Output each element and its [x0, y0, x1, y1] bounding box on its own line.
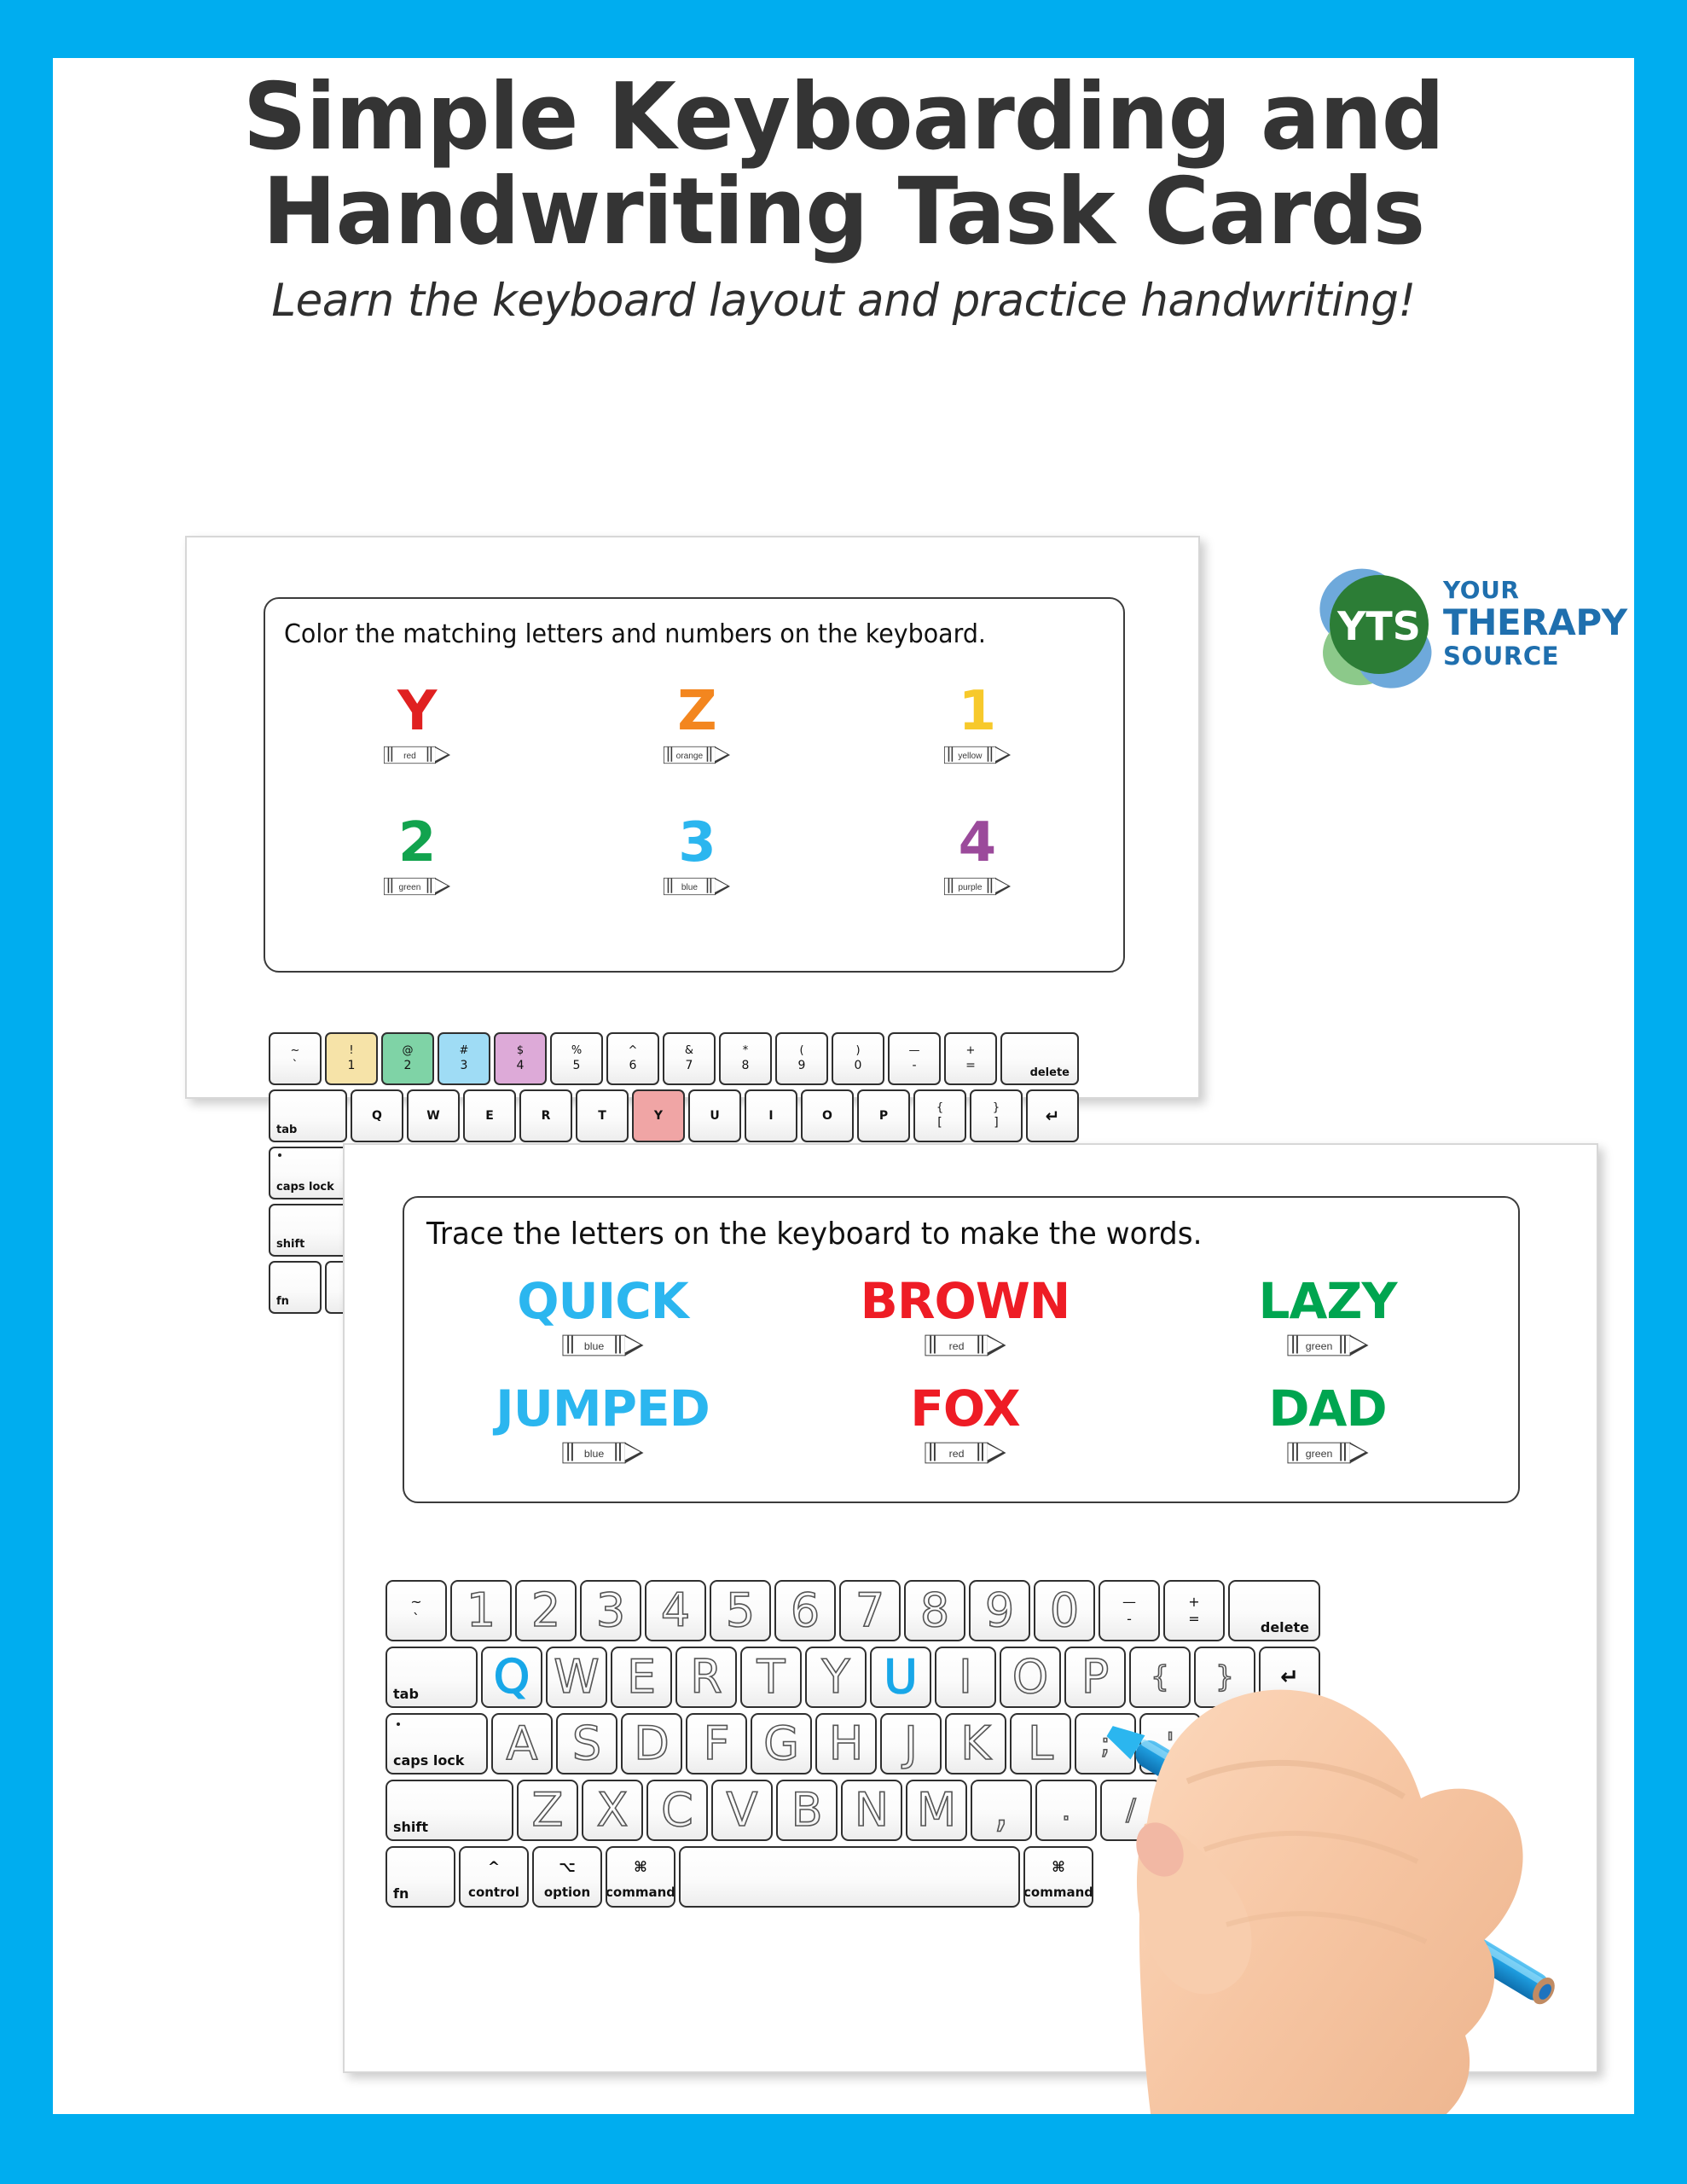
- key-option[interactable]: ⌥option: [532, 1846, 602, 1908]
- trace-word: JUMPED: [421, 1384, 784, 1433]
- key-label: ↵: [1046, 1106, 1060, 1126]
- key-label: @2: [403, 1045, 414, 1072]
- key-label: tab: [393, 1686, 419, 1702]
- key-O[interactable]: O: [1000, 1647, 1061, 1708]
- key-period[interactable]: .: [1035, 1780, 1097, 1841]
- crayon-band: [619, 1443, 621, 1461]
- crayon-icon: green: [384, 878, 450, 895]
- task-card-tracing[interactable]: Trace the letters on the keyboard to mak…: [343, 1143, 1598, 2073]
- key-label: 3: [596, 1588, 625, 1634]
- key-`[interactable]: ~`: [386, 1580, 447, 1641]
- card1-instruction-box: Color the matching letters and numbers o…: [264, 597, 1125, 973]
- card1-instruction-text: Color the matching letters and numbers o…: [284, 619, 986, 649]
- key-K[interactable]: K: [945, 1713, 1006, 1774]
- card2-word-grid: QUICKblueBROWNredLAZYgreenJUMPEDblueFOXr…: [421, 1276, 1509, 1464]
- keyboard-row-numbers: ~`1234567890—-+=delete: [386, 1580, 1324, 1641]
- crayon-tip-inner: [1349, 1337, 1365, 1353]
- key-label: %5: [571, 1045, 582, 1072]
- crayon-color-label: blue: [572, 1443, 614, 1464]
- key-label: X: [597, 1787, 629, 1833]
- key-bracket-right[interactable]: }: [1194, 1647, 1255, 1708]
- key-label: caps lock: [393, 1752, 464, 1769]
- color-key-item: 2green: [277, 816, 557, 897]
- key-P[interactable]: P: [857, 1089, 910, 1142]
- crayon-band: [388, 747, 389, 762]
- key-W[interactable]: W: [546, 1647, 607, 1708]
- key-6[interactable]: 6: [774, 1580, 836, 1641]
- trace-word-item: LAZYgreen: [1146, 1276, 1509, 1356]
- key-M[interactable]: M: [906, 1780, 967, 1841]
- key-label: tab: [276, 1124, 297, 1136]
- crayon-band: [431, 879, 432, 893]
- crayon-color-label: blue: [673, 878, 708, 895]
- key-label: ~`: [291, 1045, 300, 1072]
- key-1[interactable]: !1: [325, 1032, 378, 1085]
- crayon-tip-inner: [435, 748, 448, 762]
- crayon-band: [1296, 1336, 1297, 1354]
- key-shift[interactable]: shift: [386, 1780, 513, 1841]
- key-label: caps lock: [276, 1181, 334, 1194]
- key-label: Y: [654, 1109, 663, 1123]
- crayon-band: [933, 1443, 935, 1461]
- trace-word: FOX: [784, 1384, 1146, 1433]
- key-9[interactable]: (9: [775, 1032, 828, 1085]
- key-Q[interactable]: Q: [351, 1089, 403, 1142]
- key-label: I: [959, 1654, 972, 1700]
- color-key-glyph: Y: [277, 684, 557, 739]
- key-semicolon[interactable]: ;: [1075, 1713, 1136, 1774]
- key-label: P: [879, 1109, 888, 1123]
- key-0[interactable]: )0: [832, 1032, 884, 1085]
- crayon-tip-inner: [987, 1444, 1002, 1461]
- key-label: W: [554, 1654, 599, 1700]
- key-label: /: [1126, 1796, 1135, 1825]
- crayon-icon: red: [925, 1443, 1006, 1464]
- key-label: F: [703, 1721, 729, 1767]
- key-label: G: [763, 1721, 799, 1767]
- card2-instruction-box: Trace the letters on the keyboard to mak…: [403, 1196, 1520, 1503]
- key-label: I: [768, 1109, 773, 1123]
- key-label: N: [855, 1787, 889, 1833]
- crayon-color-label: red: [935, 1335, 977, 1356]
- key-S[interactable]: S: [556, 1713, 617, 1774]
- key-quote[interactable]: ': [1139, 1713, 1201, 1774]
- trace-word-item: QUICKblue: [421, 1276, 784, 1356]
- key-label: {: [1151, 1663, 1169, 1692]
- trace-word-item: JUMPEDblue: [421, 1384, 784, 1464]
- key-label: E: [485, 1109, 494, 1123]
- crayon-tip-inner: [624, 1444, 640, 1461]
- key-label: Z: [532, 1787, 564, 1833]
- key-R[interactable]: R: [675, 1647, 737, 1708]
- crayon-icon: red: [384, 746, 450, 764]
- key-label: }]: [993, 1102, 1000, 1129]
- crayon-icon: blue: [562, 1443, 643, 1464]
- key-`[interactable]: ~`: [269, 1032, 322, 1085]
- key-R[interactable]: R: [519, 1089, 572, 1142]
- key-9[interactable]: 9: [969, 1580, 1030, 1641]
- key-space[interactable]: [679, 1846, 1020, 1908]
- key--[interactable]: —-: [1099, 1580, 1160, 1641]
- key-E[interactable]: E: [463, 1089, 516, 1142]
- key-control[interactable]: ^control: [459, 1846, 529, 1908]
- keyboard-row-qwerty: tabQWERTYUIOP{[}]↵: [269, 1089, 1082, 1142]
- trace-word: LAZY: [1146, 1276, 1509, 1326]
- key-return[interactable]: ↵: [1026, 1089, 1079, 1142]
- key-label: P: [1081, 1654, 1110, 1700]
- key-return[interactable]: ↵: [1259, 1647, 1320, 1708]
- key-=[interactable]: +=: [1163, 1580, 1225, 1641]
- task-card-color-matching[interactable]: Color the matching letters and numbers o…: [185, 536, 1200, 1099]
- key-label: —-: [909, 1045, 920, 1072]
- keyboard-row-modifiers: fn^control⌥option⌘command⌘command: [386, 1846, 1324, 1908]
- key-J[interactable]: J: [880, 1713, 942, 1774]
- key-label: K: [960, 1721, 990, 1767]
- key-label: ⌘command: [1023, 1848, 1093, 1906]
- key-0[interactable]: 0: [1034, 1580, 1095, 1641]
- crayon-band: [982, 1336, 983, 1354]
- key-label: O: [822, 1109, 832, 1123]
- key-tab[interactable]: tab: [386, 1647, 478, 1708]
- header: Simple Keyboarding and Handwriting Task …: [53, 58, 1634, 327]
- crayon-band: [982, 1443, 983, 1461]
- crayon-band: [567, 1443, 569, 1461]
- trace-word: QUICK: [421, 1276, 784, 1326]
- crayon-band: [427, 879, 428, 893]
- key-fn[interactable]: fn: [386, 1846, 455, 1908]
- key-,[interactable]: ,: [971, 1780, 1032, 1841]
- keyboard-row-numbers: ~`!1@2#3$4%5^6&7*8(9)0—-+=delete: [269, 1032, 1082, 1085]
- crayon-band: [427, 747, 428, 762]
- crayon-tip-inner: [716, 880, 728, 893]
- crayon-icon: blue: [664, 878, 730, 895]
- crayon-band: [431, 747, 432, 762]
- logo-line-source: SOURCE: [1443, 644, 1627, 669]
- crayon-tip-inner: [995, 880, 1008, 893]
- key-F[interactable]: F: [686, 1713, 747, 1774]
- crayon-band: [990, 747, 991, 762]
- key-slash[interactable]: /: [1100, 1780, 1162, 1841]
- key-label: (9: [798, 1045, 806, 1072]
- crayon-band: [619, 1336, 621, 1354]
- key-label: R: [690, 1654, 722, 1700]
- crayon-icon: red: [925, 1335, 1006, 1356]
- crayon-band: [930, 1443, 931, 1461]
- key-L[interactable]: L: [1010, 1713, 1071, 1774]
- trace-word-item: BROWNred: [784, 1276, 1146, 1356]
- key-label: H: [829, 1721, 864, 1767]
- keyboard-row-home: caps lockASDFGHJKL;': [386, 1713, 1324, 1774]
- crayon-band: [571, 1443, 572, 1461]
- crayon-band: [933, 1336, 935, 1354]
- key-label: &7: [685, 1045, 693, 1072]
- key-label: 6: [791, 1588, 820, 1634]
- crayon-icon: green: [1287, 1443, 1368, 1464]
- crayon-color-label: red: [935, 1443, 977, 1464]
- key-label: shift: [393, 1819, 428, 1835]
- key-label: delete: [1261, 1619, 1309, 1635]
- key-delete[interactable]: delete: [1228, 1580, 1320, 1641]
- key-3[interactable]: 3: [580, 1580, 641, 1641]
- key-label: —-: [1122, 1595, 1136, 1627]
- key-label: 4: [661, 1588, 690, 1634]
- page-title-line1: Simple Keyboarding and: [84, 70, 1603, 165]
- color-key-glyph: 2: [277, 816, 557, 870]
- key-H[interactable]: H: [815, 1713, 877, 1774]
- key-6[interactable]: ^6: [606, 1032, 659, 1085]
- key-label: fn: [393, 1885, 409, 1902]
- key-4[interactable]: 4: [645, 1580, 706, 1641]
- color-key-glyph: 1: [838, 684, 1117, 739]
- key-label: A: [507, 1721, 538, 1767]
- key-B[interactable]: B: [776, 1780, 838, 1841]
- crayon-band: [388, 879, 389, 893]
- card2-instruction-text: Trace the letters on the keyboard to mak…: [426, 1217, 1202, 1252]
- key-label: T: [757, 1654, 786, 1700]
- key-label: 5: [726, 1588, 755, 1634]
- key-label: B: [791, 1787, 822, 1833]
- trace-word-item: DADgreen: [1146, 1384, 1509, 1464]
- key-bracket-right[interactable]: }]: [970, 1089, 1023, 1142]
- key-label: L: [1028, 1721, 1053, 1767]
- key-label: 8: [920, 1588, 949, 1634]
- yts-logo-mark: YTS: [1313, 563, 1440, 689]
- key-label: 7: [855, 1588, 884, 1634]
- key-tab[interactable]: tab: [269, 1089, 347, 1142]
- crayon-tip-inner: [987, 1337, 1002, 1353]
- crayon-color-label: green: [1297, 1335, 1339, 1356]
- crayon-color-label: green: [392, 878, 427, 895]
- key-label: .: [1062, 1796, 1071, 1825]
- crayon-band: [1344, 1443, 1346, 1461]
- key-label: ↵: [1280, 1664, 1299, 1690]
- key-U[interactable]: U: [870, 1647, 931, 1708]
- color-key-item: Zorange: [557, 684, 837, 766]
- key-label: delete: [1030, 1066, 1070, 1079]
- keyboard-row-bottom: shiftZXCVBNM,./: [386, 1780, 1324, 1841]
- key-V[interactable]: V: [711, 1780, 773, 1841]
- crayon-color-label: red: [392, 746, 427, 764]
- key-label: +=: [1188, 1595, 1199, 1627]
- crayon-band: [988, 879, 988, 893]
- key-label: ': [1166, 1729, 1174, 1758]
- key-label: fn: [276, 1295, 289, 1308]
- key-8[interactable]: *8: [719, 1032, 772, 1085]
- key-I[interactable]: I: [745, 1089, 797, 1142]
- crayon-band: [930, 1336, 931, 1354]
- key-label: ,: [994, 1787, 1008, 1833]
- crayon-tip-inner: [1349, 1444, 1365, 1461]
- key-label: O: [1012, 1654, 1049, 1700]
- key-label: M: [917, 1787, 957, 1833]
- crayon-band: [990, 879, 991, 893]
- key-command-left[interactable]: ⌘command: [606, 1846, 675, 1908]
- key-label: shift: [276, 1238, 304, 1251]
- key-N[interactable]: N: [841, 1780, 902, 1841]
- color-key-glyph: 3: [557, 816, 837, 870]
- crayon-band: [571, 1336, 572, 1354]
- crayon-color-label: purple: [953, 878, 988, 895]
- page-title-line2: Handwriting Task Cards: [84, 165, 1603, 259]
- trace-word: BROWN: [784, 1276, 1146, 1326]
- key-Y[interactable]: Y: [805, 1647, 867, 1708]
- key-bracket-left[interactable]: {[: [913, 1089, 966, 1142]
- key-label: T: [598, 1109, 606, 1123]
- key-label: Q: [494, 1654, 530, 1700]
- key-label: ⌘command: [606, 1848, 675, 1906]
- key-label: D: [634, 1721, 670, 1767]
- color-key-glyph: 4: [838, 816, 1117, 870]
- color-key-item: 3blue: [557, 816, 837, 897]
- color-key-glyph: Z: [557, 684, 837, 739]
- key-O[interactable]: O: [801, 1089, 854, 1142]
- key-A[interactable]: A: [491, 1713, 553, 1774]
- key-Y[interactable]: Y: [632, 1089, 685, 1142]
- crayon-band: [1344, 1336, 1346, 1354]
- key-label: 0: [1050, 1588, 1079, 1634]
- key-label: R: [542, 1109, 551, 1123]
- key-label: E: [627, 1654, 656, 1700]
- key-3[interactable]: #3: [438, 1032, 490, 1085]
- crayon-icon: orange: [664, 746, 730, 764]
- yts-logo: YTS YOUR THERAPY SOURCE: [1313, 563, 1629, 691]
- key-label: }: [1215, 1663, 1234, 1692]
- crayon-icon: blue: [562, 1335, 643, 1356]
- crayon-band: [1292, 1443, 1294, 1461]
- key-bracket-left[interactable]: {: [1129, 1647, 1191, 1708]
- key-label: W: [426, 1109, 439, 1123]
- key-1[interactable]: 1: [450, 1580, 512, 1641]
- worksheet-page: Simple Keyboarding and Handwriting Task …: [53, 58, 1634, 2114]
- key-T[interactable]: T: [740, 1647, 802, 1708]
- key-W[interactable]: W: [407, 1089, 460, 1142]
- key-4[interactable]: $4: [494, 1032, 547, 1085]
- logo-line-therapy: THERAPY: [1443, 605, 1627, 641]
- crayon-color-label: yellow: [953, 746, 988, 764]
- key-label: ^6: [629, 1045, 638, 1072]
- key-Q[interactable]: Q: [481, 1647, 542, 1708]
- key-U[interactable]: U: [688, 1089, 741, 1142]
- key-label: {[: [936, 1102, 943, 1129]
- crayon-color-label: blue: [572, 1335, 614, 1356]
- key-C[interactable]: C: [646, 1780, 708, 1841]
- key-E[interactable]: E: [611, 1647, 672, 1708]
- key-G[interactable]: G: [751, 1713, 812, 1774]
- page-subtitle: Learn the keyboard layout and practice h…: [77, 275, 1610, 327]
- crayon-icon: yellow: [944, 746, 1011, 764]
- key-7[interactable]: &7: [663, 1032, 716, 1085]
- crayon-band: [1296, 1443, 1297, 1461]
- key-caps-lock[interactable]: caps lock: [386, 1713, 488, 1774]
- key-label: ^control: [468, 1848, 519, 1906]
- key-label: )0: [855, 1045, 862, 1072]
- yts-logo-text: YOUR THERAPY SOURCE: [1443, 578, 1627, 669]
- svg-text:YTS: YTS: [1336, 603, 1421, 649]
- key-label: 1: [467, 1588, 496, 1634]
- key-T[interactable]: T: [576, 1089, 629, 1142]
- key-8[interactable]: 8: [904, 1580, 965, 1641]
- key-label: $4: [517, 1045, 525, 1072]
- key-label: 2: [531, 1588, 560, 1634]
- key-P[interactable]: P: [1064, 1647, 1126, 1708]
- key-label: Q: [372, 1109, 382, 1123]
- key-label: J: [904, 1721, 918, 1767]
- key-X[interactable]: X: [582, 1780, 643, 1841]
- key-fn[interactable]: fn: [269, 1261, 322, 1314]
- key-2[interactable]: 2: [515, 1580, 577, 1641]
- key-label: ~`: [410, 1595, 421, 1627]
- key-label: ;: [1100, 1729, 1110, 1758]
- trace-word: DAD: [1146, 1384, 1509, 1433]
- crayon-tip-inner: [716, 748, 728, 762]
- key-label: !1: [348, 1045, 356, 1072]
- key-2[interactable]: @2: [381, 1032, 434, 1085]
- crayon-band: [1292, 1336, 1294, 1354]
- key-I[interactable]: I: [935, 1647, 996, 1708]
- crayon-icon: purple: [944, 878, 1011, 895]
- crayon-band: [988, 747, 988, 762]
- key-label: ⌥option: [544, 1848, 590, 1906]
- key--[interactable]: —-: [888, 1032, 941, 1085]
- color-key-item: Yred: [277, 684, 557, 766]
- crayon-color-label: green: [1297, 1443, 1339, 1464]
- key-label: Y: [822, 1654, 850, 1700]
- key-label: C: [661, 1787, 693, 1833]
- crayon-tip-inner: [624, 1337, 640, 1353]
- card2-keyboard[interactable]: ~`1234567890—-+=deletetabQWERTYUIOP{}↵ca…: [386, 1580, 1324, 1913]
- color-key-item: 4purple: [838, 816, 1117, 897]
- keyboard-row-qwerty: tabQWERTYUIOP{}↵: [386, 1647, 1324, 1708]
- key-5[interactable]: %5: [550, 1032, 603, 1085]
- key-=[interactable]: +=: [944, 1032, 997, 1085]
- color-key-item: 1yellow: [838, 684, 1117, 766]
- crayon-tip-inner: [435, 880, 448, 893]
- caps-lock-indicator-icon: [278, 1153, 281, 1157]
- logo-line-your: YOUR: [1443, 578, 1627, 602]
- crayon-icon: green: [1287, 1335, 1368, 1356]
- crayon-color-label: orange: [673, 746, 708, 764]
- trace-word-item: FOXred: [784, 1384, 1146, 1464]
- key-D[interactable]: D: [621, 1713, 682, 1774]
- key-label: S: [572, 1721, 601, 1767]
- key-label: #3: [460, 1045, 469, 1072]
- key-label: V: [727, 1787, 758, 1833]
- crayon-tip-inner: [995, 748, 1008, 762]
- key-label: 9: [985, 1588, 1014, 1634]
- key-label: U: [884, 1654, 918, 1700]
- crayon-band: [948, 747, 949, 762]
- key-delete[interactable]: delete: [1000, 1032, 1079, 1085]
- card1-color-key-grid: YredZorange1yellow2green3blue4purple: [277, 684, 1117, 897]
- key-5[interactable]: 5: [710, 1580, 771, 1641]
- key-label: +=: [965, 1045, 976, 1072]
- key-command-right[interactable]: ⌘command: [1023, 1846, 1093, 1908]
- key-label: *8: [742, 1045, 750, 1072]
- crayon-band: [567, 1336, 569, 1354]
- caps-lock-indicator-icon: [397, 1722, 400, 1726]
- crayon-band: [948, 879, 949, 893]
- key-7[interactable]: 7: [839, 1580, 901, 1641]
- key-label: U: [710, 1109, 719, 1123]
- key-Z[interactable]: Z: [517, 1780, 578, 1841]
